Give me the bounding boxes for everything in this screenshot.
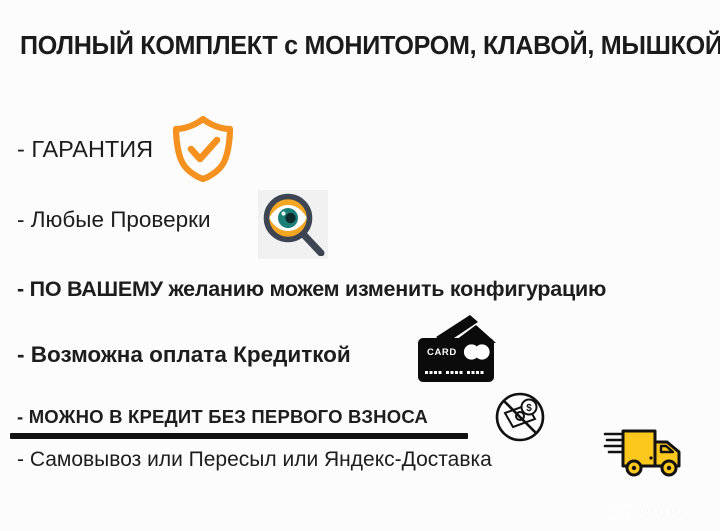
list-item: - ПО ВАШЕМУ желанию можем изменить конфи… bbox=[17, 277, 606, 302]
bullet-label-no-downpayment: - МОЖНО В КРЕДИТ БЕЗ ПЕРВОГО ВЗНОСА bbox=[17, 406, 428, 428]
listing-image-canvas: ПОЛНЫЙ КОМПЛЕКТ с МОНИТОРОМ, КЛАВОЙ, МЫШ… bbox=[0, 0, 720, 531]
bullet-label-guarantee: - ГАРАНТИЯ bbox=[17, 136, 153, 163]
credit-card-icon: CARD bbox=[412, 313, 498, 385]
list-item: - ГАРАНТИЯ bbox=[17, 136, 153, 163]
bullet-label-credit-card-payment: - Возможна оплата Кредиткой bbox=[17, 342, 351, 368]
shield-check-icon bbox=[172, 116, 234, 182]
eye-magnifier-icon-background bbox=[258, 190, 328, 259]
no-cash-icon: $ bbox=[494, 391, 546, 443]
delivery-truck-icon bbox=[603, 428, 691, 478]
decorative-underline bbox=[10, 433, 468, 439]
svg-text:$: $ bbox=[526, 403, 532, 414]
avito-watermark-label: Avito bbox=[638, 498, 689, 524]
bullet-label-delivery-options: - Самовывоз или Пересыл или Яндекс-Доста… bbox=[17, 448, 492, 472]
list-item: - Возможна оплата Кредиткой bbox=[17, 342, 351, 368]
eye-magnifier-icon bbox=[261, 192, 325, 256]
avito-logo-icon bbox=[609, 501, 636, 523]
svg-text:CARD: CARD bbox=[427, 347, 457, 358]
list-item: - Любые Проверки bbox=[17, 207, 211, 233]
list-item: - МОЖНО В КРЕДИТ БЕЗ ПЕРВОГО ВЗНОСА bbox=[17, 406, 428, 428]
list-item: - Самовывоз или Пересыл или Яндекс-Доста… bbox=[17, 448, 492, 472]
page-title: ПОЛНЫЙ КОМПЛЕКТ с МОНИТОРОМ, КЛАВОЙ, МЫШ… bbox=[20, 32, 700, 61]
bullet-label-checks: - Любые Проверки bbox=[17, 207, 211, 233]
avito-watermark: Avito bbox=[608, 497, 712, 527]
bullet-label-configuration: - ПО ВАШЕМУ желанию можем изменить конфи… bbox=[17, 277, 606, 302]
